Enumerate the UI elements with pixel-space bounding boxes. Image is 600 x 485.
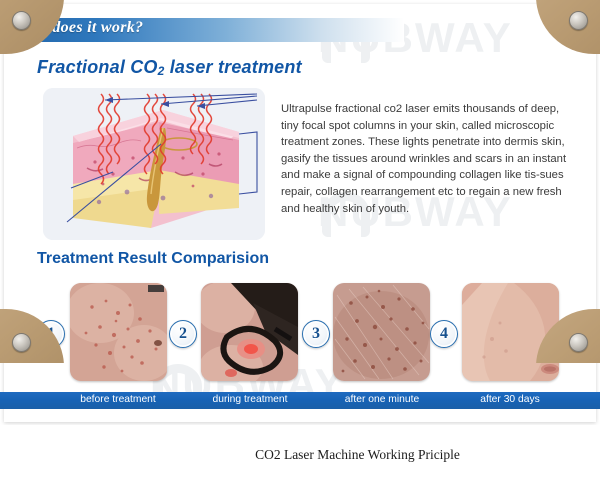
corner-tab-top-left	[0, 0, 82, 62]
photo-caption-1: before treatment	[53, 394, 183, 405]
corner-tab-bottom-left	[0, 301, 82, 363]
step-number: 4	[440, 326, 448, 342]
slide-sheet: NUBWAY NUBWAY NUBWAY How does it work? F…	[0, 0, 600, 425]
photo-caption-2: during treatment	[185, 394, 315, 405]
cardboard-pad	[0, 309, 64, 363]
slide-canvas: NUBWAY NUBWAY NUBWAY How does it work? F…	[0, 0, 600, 485]
step-badge-4: 4	[430, 320, 458, 348]
rivet-icon	[569, 11, 588, 30]
corner-tab-bottom-right	[518, 301, 600, 363]
rivet-icon	[569, 333, 588, 352]
result-photo-before-treatment	[70, 283, 167, 381]
figure-caption: CO2 Laser Machine Working Priciple	[0, 447, 600, 463]
cardboard-pad	[536, 0, 600, 54]
description-paragraph: Ultrapulse fractional co2 laser emits th…	[281, 101, 569, 217]
step-badge-3: 3	[302, 320, 330, 348]
step-badge-2: 2	[169, 320, 197, 348]
result-photo-after-one-minute	[333, 283, 430, 381]
step-number: 2	[179, 326, 187, 342]
cardboard-pad	[536, 309, 600, 363]
corner-tab-top-right	[518, 0, 600, 62]
cardboard-pad	[0, 0, 64, 54]
page-title-subscript: 2	[158, 64, 165, 78]
caption-bar: before treatment during treatment after …	[0, 392, 600, 409]
photo-caption-4: after 30 days	[445, 394, 575, 405]
result-photo-during-treatment	[201, 283, 298, 381]
photo-caption-3: after one minute	[317, 394, 447, 405]
step-number: 3	[312, 326, 320, 342]
rivet-icon	[12, 11, 31, 30]
rivet-icon	[12, 333, 31, 352]
section-title: Treatment Result Comparision	[37, 250, 269, 268]
page-title-suffix: laser treatment	[165, 57, 302, 77]
skin-cross-section-diagram	[43, 88, 265, 240]
